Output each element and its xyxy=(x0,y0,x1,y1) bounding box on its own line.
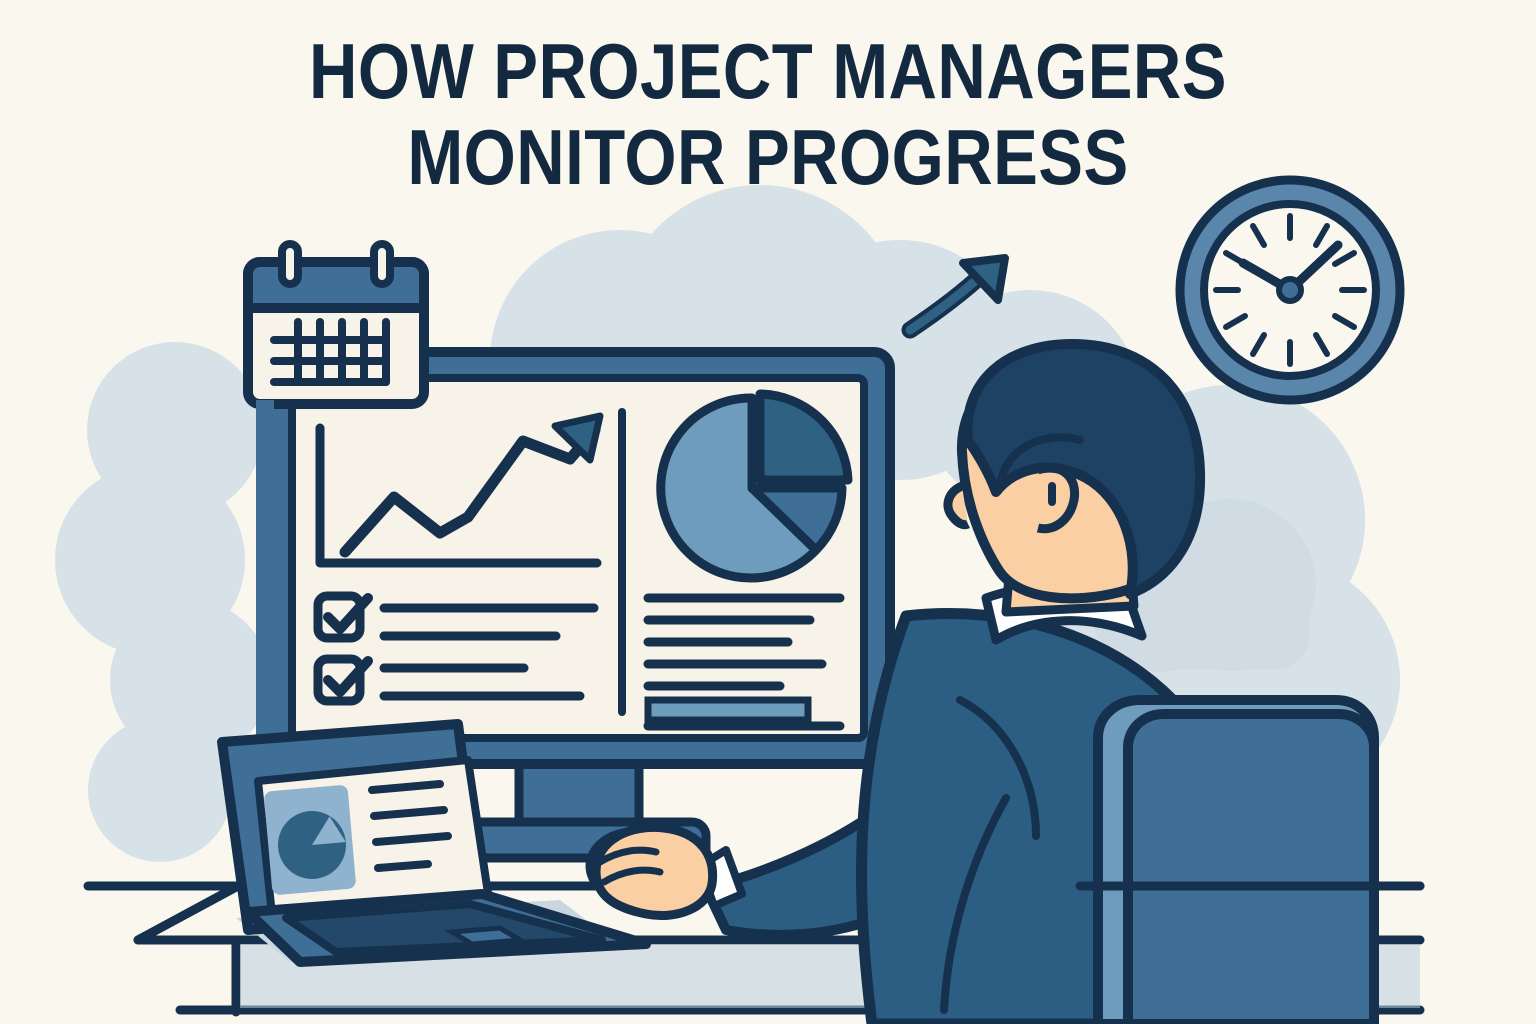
pie-chart xyxy=(661,394,848,578)
wall-clock xyxy=(1180,180,1400,400)
person-ear xyxy=(1038,468,1075,529)
illustration-canvas: HOW PROJECT MANAGERS MONITOR PROGRESS xyxy=(0,0,1536,1024)
clock-center-pin xyxy=(1279,279,1301,301)
chair-back xyxy=(1128,714,1374,1024)
calendar-header xyxy=(248,262,424,308)
calendar-stem xyxy=(256,400,274,740)
progress-bar-fill xyxy=(648,700,808,720)
office-chair xyxy=(1098,700,1374,1024)
scene-artwork xyxy=(0,0,1536,1024)
